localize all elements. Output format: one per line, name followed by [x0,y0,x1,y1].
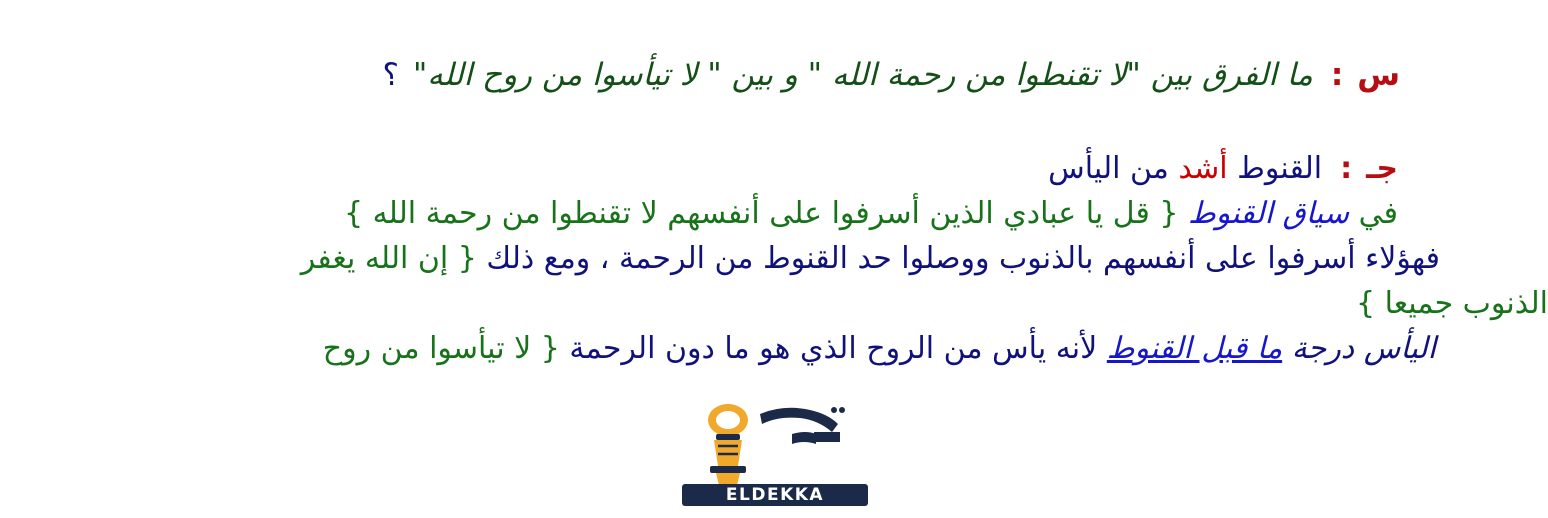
answer-line5-green: { لا تيأسوا من روح [323,331,560,366]
answer-line1-part2: أشد [1169,151,1237,186]
question-text: ما الفرق بين "لا تقنطوا من رحمة الله " و… [413,57,1313,93]
question-mark-glyph: ؟ [383,57,413,93]
document-page: س:ما الفرق بين "لا تقنطوا من رحمة الله "… [0,0,1548,518]
logo-lantern-icon [708,404,748,485]
answer-block: جـ:القنوط أشد من اليأس في سياق القنوط { … [0,146,1548,371]
answer-colon: : [1322,151,1366,186]
answer-line1-part1: القنوط [1237,151,1322,186]
question-marker: س [1357,57,1400,93]
question-line: س:ما الفرق بين "لا تقنطوا من رحمة الله "… [0,52,1548,98]
answer-line5-navy2: لأنه يأس من الروح الذي هو ما دون الرحمة [569,331,1097,366]
answer-line2-rest: { قل يا عبادي الذين أسرفوا على أنفسهم لا… [344,196,1178,231]
eldekka-logo: ELDEKKA [664,398,884,510]
svg-text:ELDEKKA: ELDEKKA [726,485,824,505]
answer-line4-green: الذنوب جميعا } [1356,286,1548,321]
answer-line3-navy: فهؤلاء أسرفوا على أنفسهم بالذنوب ووصلوا … [486,241,1440,276]
answer-line-3: فهؤلاء أسرفوا على أنفسهم بالذنوب ووصلوا … [0,236,1548,281]
answer-line2-prefix: في [1359,196,1398,231]
answer-line-2: في سياق القنوط { قل يا عبادي الذين أسرفو… [0,191,1548,236]
logo-arabic-wordmark [760,407,845,444]
answer-line2-emphasis: سياق القنوط [1188,196,1349,231]
answer-line5-navy1: اليأس درجة [1292,331,1436,366]
answer-line3-green: { إن الله يغفر [301,241,477,276]
logo-latin-wordmark: ELDEKKA [682,484,868,506]
answer-line1-part3: من اليأس [1048,151,1169,186]
answer-line5-emphasis: ما قبل القنوط [1107,331,1282,366]
answer-line-1: جـ:القنوط أشد من اليأس [0,146,1548,191]
question-colon: : [1313,57,1357,93]
answer-line-4: الذنوب جميعا } [0,281,1548,326]
answer-line-5: اليأس درجة ما قبل القنوط لأنه يأس من الر… [0,326,1548,371]
answer-marker: جـ [1366,151,1398,186]
